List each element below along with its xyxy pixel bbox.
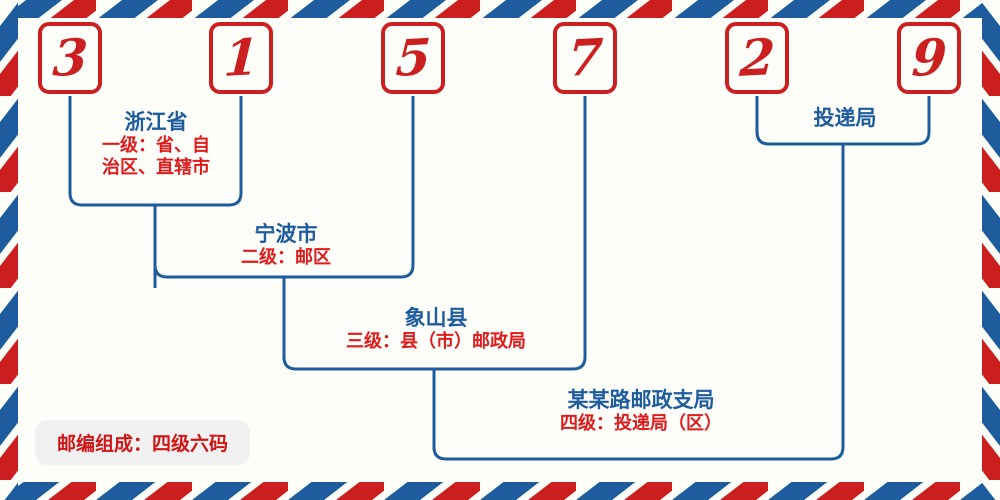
composition-badge: 邮编组成：四级六码 xyxy=(35,420,250,465)
label-delivery-office-title: 投递局 xyxy=(770,106,920,131)
label-level-1-desc-line-1: 一级：省、自 xyxy=(76,135,236,158)
label-level-1-desc: 一级：省、自 治区、直辖市 xyxy=(76,135,236,180)
label-level-2-title: 宁波市 xyxy=(198,222,374,247)
postcode-diagram: 3 1 5 7 2 9 浙江省 一级：省、自 治区、直辖市 xyxy=(0,0,1000,500)
label-level-3: 象山县 三级：县（市）邮政局 xyxy=(318,306,554,352)
label-level-1-desc-line-2: 治区、直辖市 xyxy=(76,157,236,180)
label-level-3-desc: 三级：县（市）邮政局 xyxy=(318,331,554,352)
label-level-2: 宁波市 二级：邮区 xyxy=(198,222,374,268)
label-level-1: 浙江省 一级：省、自 治区、直辖市 xyxy=(76,110,236,180)
label-level-3-title: 象山县 xyxy=(318,306,554,331)
label-level-1-title: 浙江省 xyxy=(76,110,236,135)
label-level-4-desc: 四级：投递局（区） xyxy=(522,413,760,434)
label-level-4: 某某路邮政支局 四级：投递局（区） xyxy=(522,388,760,434)
label-level-4-title: 某某路邮政支局 xyxy=(522,388,760,413)
label-delivery-office: 投递局 xyxy=(770,106,920,131)
label-level-2-desc: 二级：邮区 xyxy=(198,247,374,268)
